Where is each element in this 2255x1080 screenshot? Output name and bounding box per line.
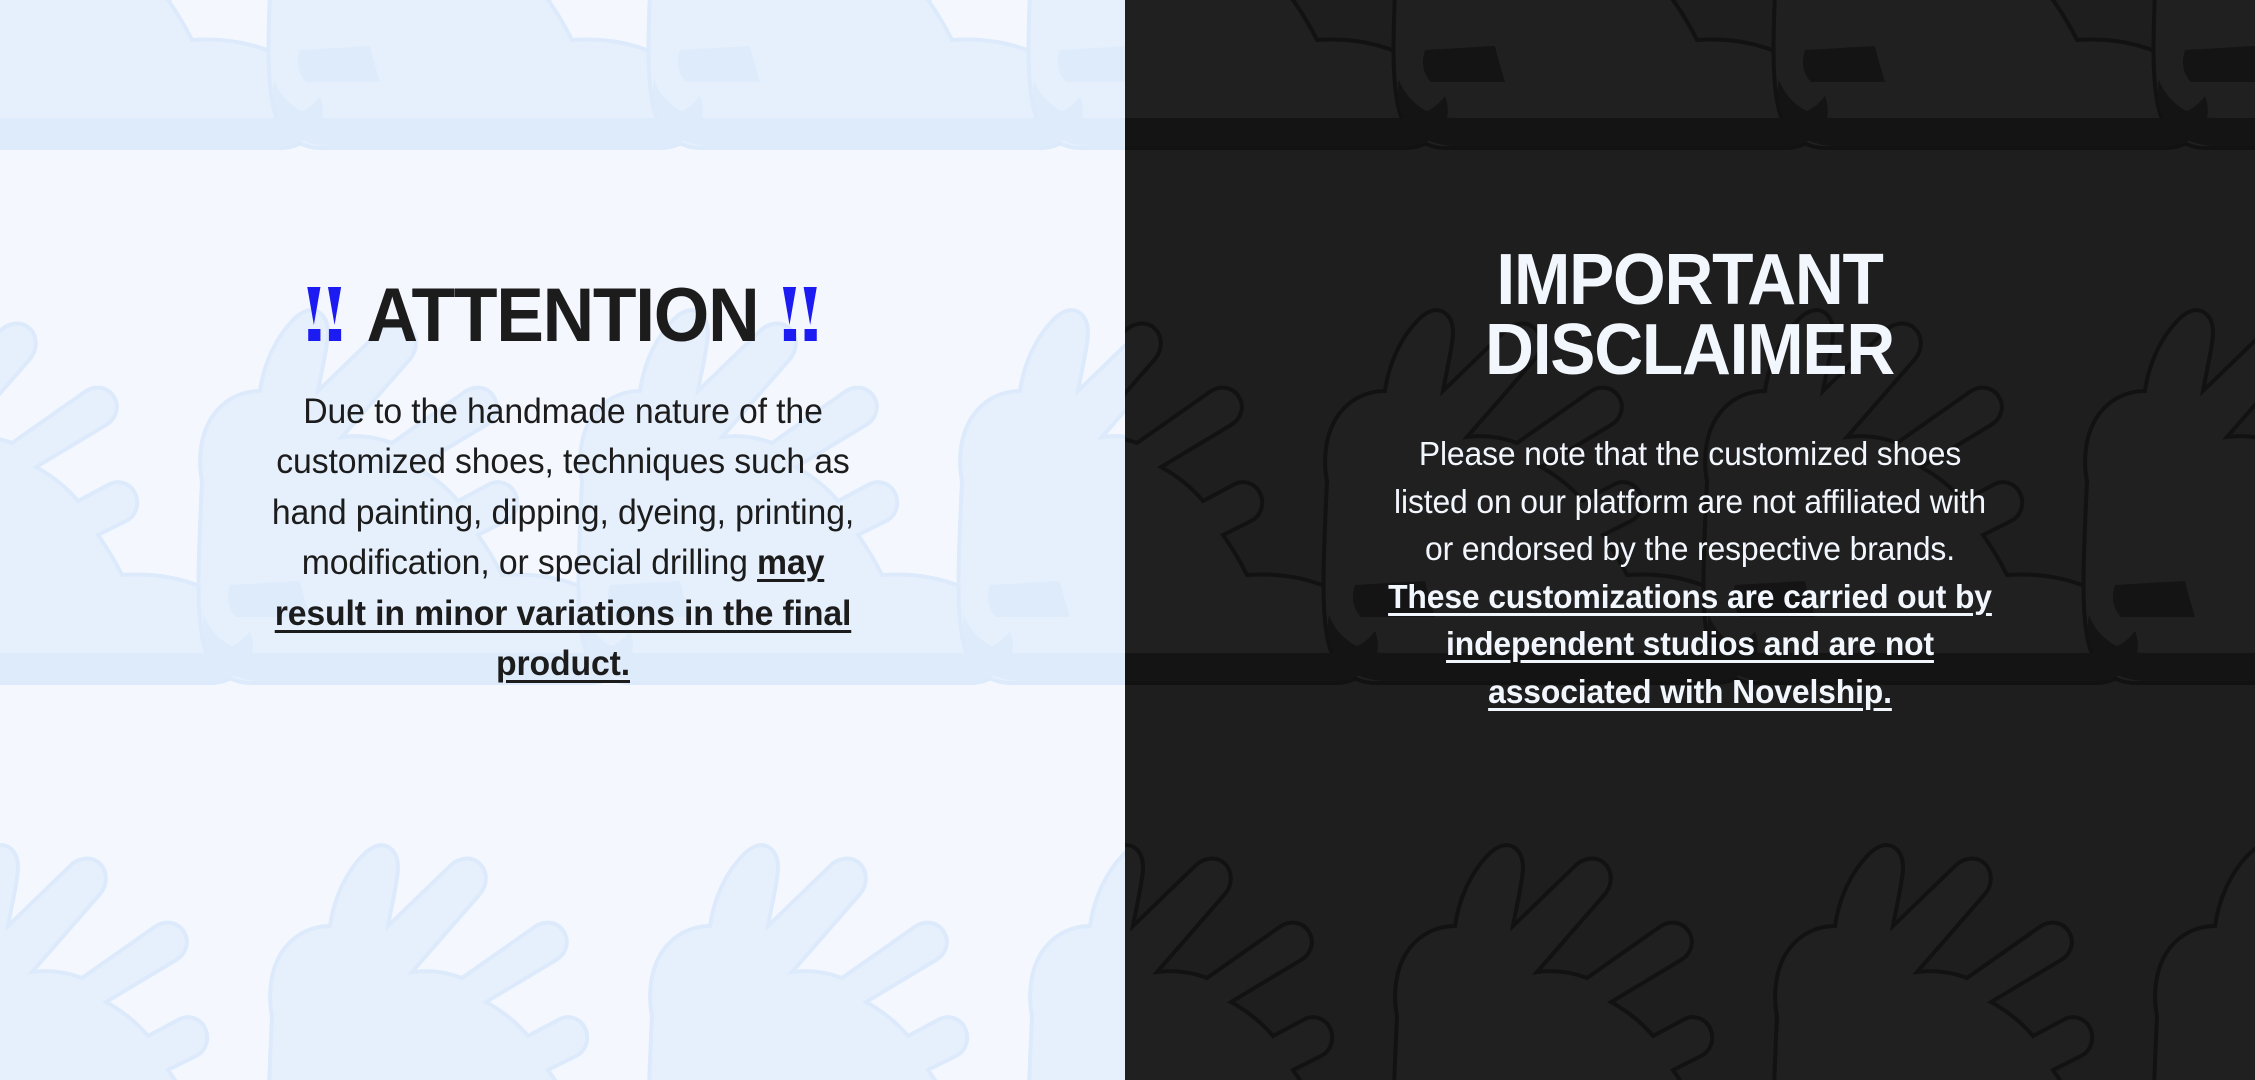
- disclaimer-content: IMPORTANT DISCLAIMER Please note that th…: [1125, 0, 2255, 1080]
- disclaimer-heading-line2: DISCLAIMER: [1486, 310, 1895, 390]
- double-exclamation-icon-right: [783, 287, 818, 341]
- disclaimer-banner: ATTENTION Due to the handmade nature of …: [0, 0, 2255, 1080]
- disclaimer-panel: IMPORTANT DISCLAIMER Please note that th…: [1125, 0, 2255, 1080]
- disclaimer-heading: IMPORTANT DISCLAIMER: [1486, 245, 1895, 386]
- disclaimer-body-emphasis: These customizations are carried out by …: [1388, 578, 1992, 710]
- disclaimer-body: Please note that the customized shoes li…: [1386, 430, 1994, 715]
- double-exclamation-icon-left: [307, 287, 342, 341]
- attention-panel: ATTENTION Due to the handmade nature of …: [0, 0, 1125, 1080]
- disclaimer-heading-line1: IMPORTANT: [1497, 240, 1883, 320]
- attention-heading: ATTENTION: [307, 279, 817, 353]
- attention-content: ATTENTION Due to the handmade nature of …: [0, 0, 1125, 1080]
- attention-body: Due to the handmade nature of the custom…: [254, 387, 872, 689]
- disclaimer-body-plain: Please note that the customized shoes li…: [1394, 435, 1986, 567]
- attention-heading-text: ATTENTION: [367, 279, 759, 353]
